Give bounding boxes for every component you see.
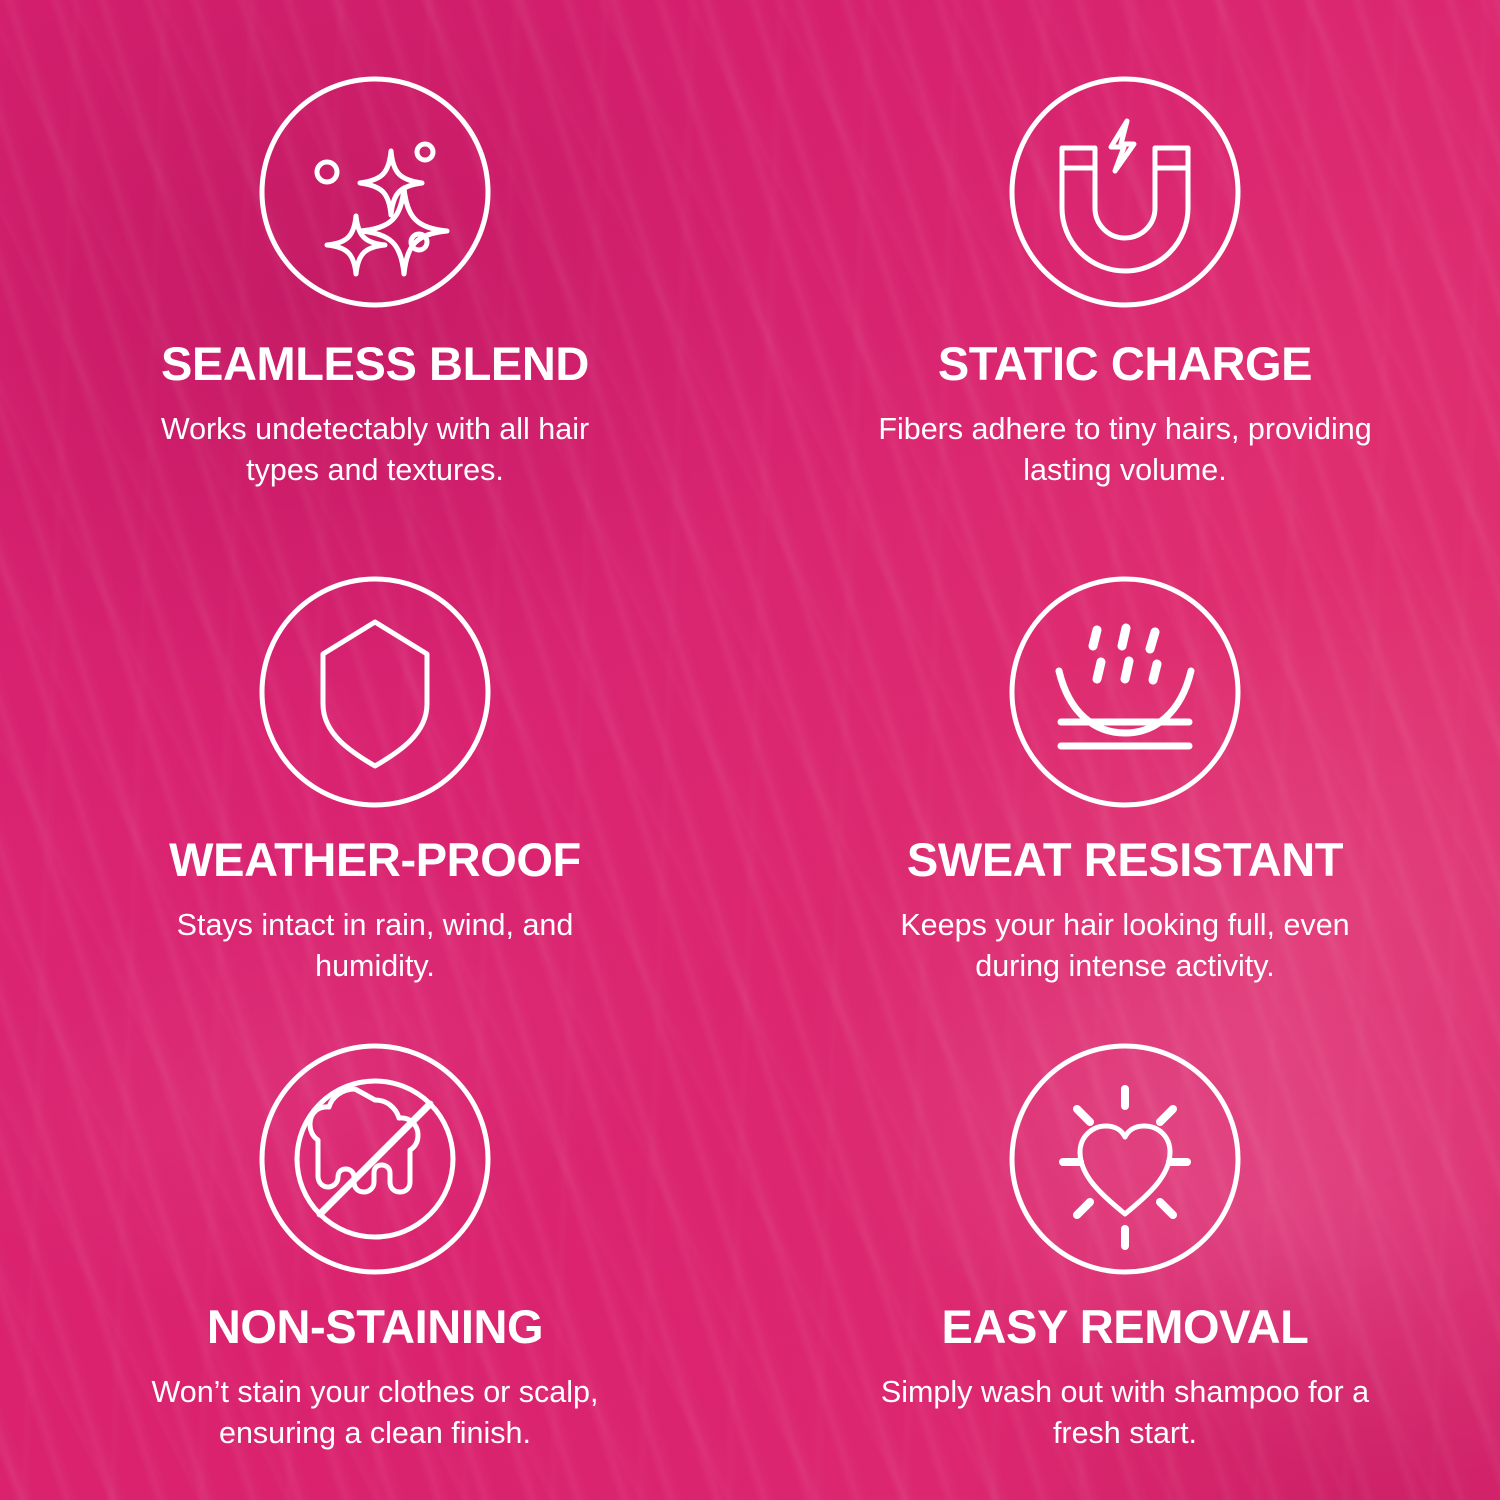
feature-description: Simply wash out with shampoo for a fresh… bbox=[875, 1372, 1375, 1453]
feature-sweat-resistant: SWEAT RESISTANT Keeps your hair looking … bbox=[750, 500, 1500, 965]
feature-title: WEATHER-PROOF bbox=[169, 836, 581, 883]
feature-description: Works undetectably with all hair types a… bbox=[125, 409, 625, 490]
feature-infographic: SEAMLESS BLEND Works undetectably with a… bbox=[0, 0, 1500, 1500]
feature-title: SEAMLESS BLEND bbox=[161, 340, 589, 387]
feature-description: Fibers adhere to tiny hairs, providing l… bbox=[875, 409, 1375, 490]
no-stain-icon bbox=[259, 1043, 491, 1275]
shield-icon bbox=[259, 576, 491, 808]
heart-shine-icon bbox=[1009, 1043, 1241, 1275]
magnet-lightning-icon bbox=[1009, 76, 1241, 308]
feature-description: Won’t stain your clothes or scalp, ensur… bbox=[125, 1372, 625, 1453]
feature-weather-proof: WEATHER-PROOF Stays intact in rain, wind… bbox=[0, 500, 750, 965]
feature-static-charge: STATIC CHARGE Fibers adhere to tiny hair… bbox=[750, 0, 1500, 500]
feature-non-staining: NON-STAINING Won’t stain your clothes or… bbox=[0, 965, 750, 1500]
feature-seamless-blend: SEAMLESS BLEND Works undetectably with a… bbox=[0, 0, 750, 500]
feature-easy-removal: EASY REMOVAL Simply wash out with shampo… bbox=[750, 965, 1500, 1500]
sparkles-icon bbox=[259, 76, 491, 308]
features-grid: SEAMLESS BLEND Works undetectably with a… bbox=[0, 0, 1500, 1500]
water-repellent-icon bbox=[1009, 576, 1241, 808]
feature-title: STATIC CHARGE bbox=[938, 340, 1312, 387]
feature-title: EASY REMOVAL bbox=[942, 1303, 1309, 1350]
feature-title: SWEAT RESISTANT bbox=[907, 836, 1343, 883]
feature-title: NON-STAINING bbox=[207, 1303, 543, 1350]
